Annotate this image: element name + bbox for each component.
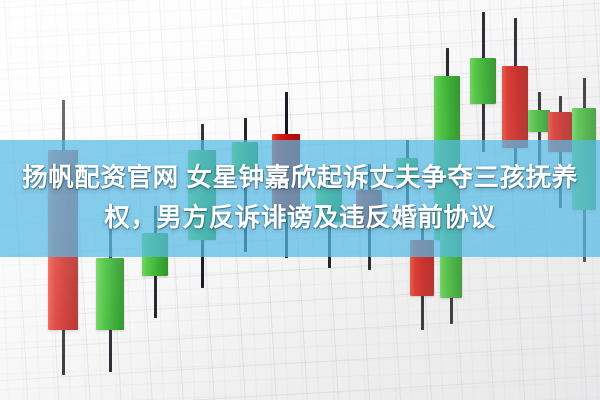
candle-body-up	[470, 58, 496, 104]
candle-body-up	[528, 110, 550, 132]
thumbnail-image: 扬帆配资官网 女星钟嘉欣起诉丈夫争夺三孩抚养 权，男方反诉诽谤及违反婚前协议	[0, 0, 600, 400]
page-title: 扬帆配资官网 女星钟嘉欣起诉丈夫争夺三孩抚养 权，男方反诉诽谤及违反婚前协议	[0, 158, 600, 238]
candle-body-up	[96, 258, 124, 330]
candle-body-down	[502, 66, 528, 148]
